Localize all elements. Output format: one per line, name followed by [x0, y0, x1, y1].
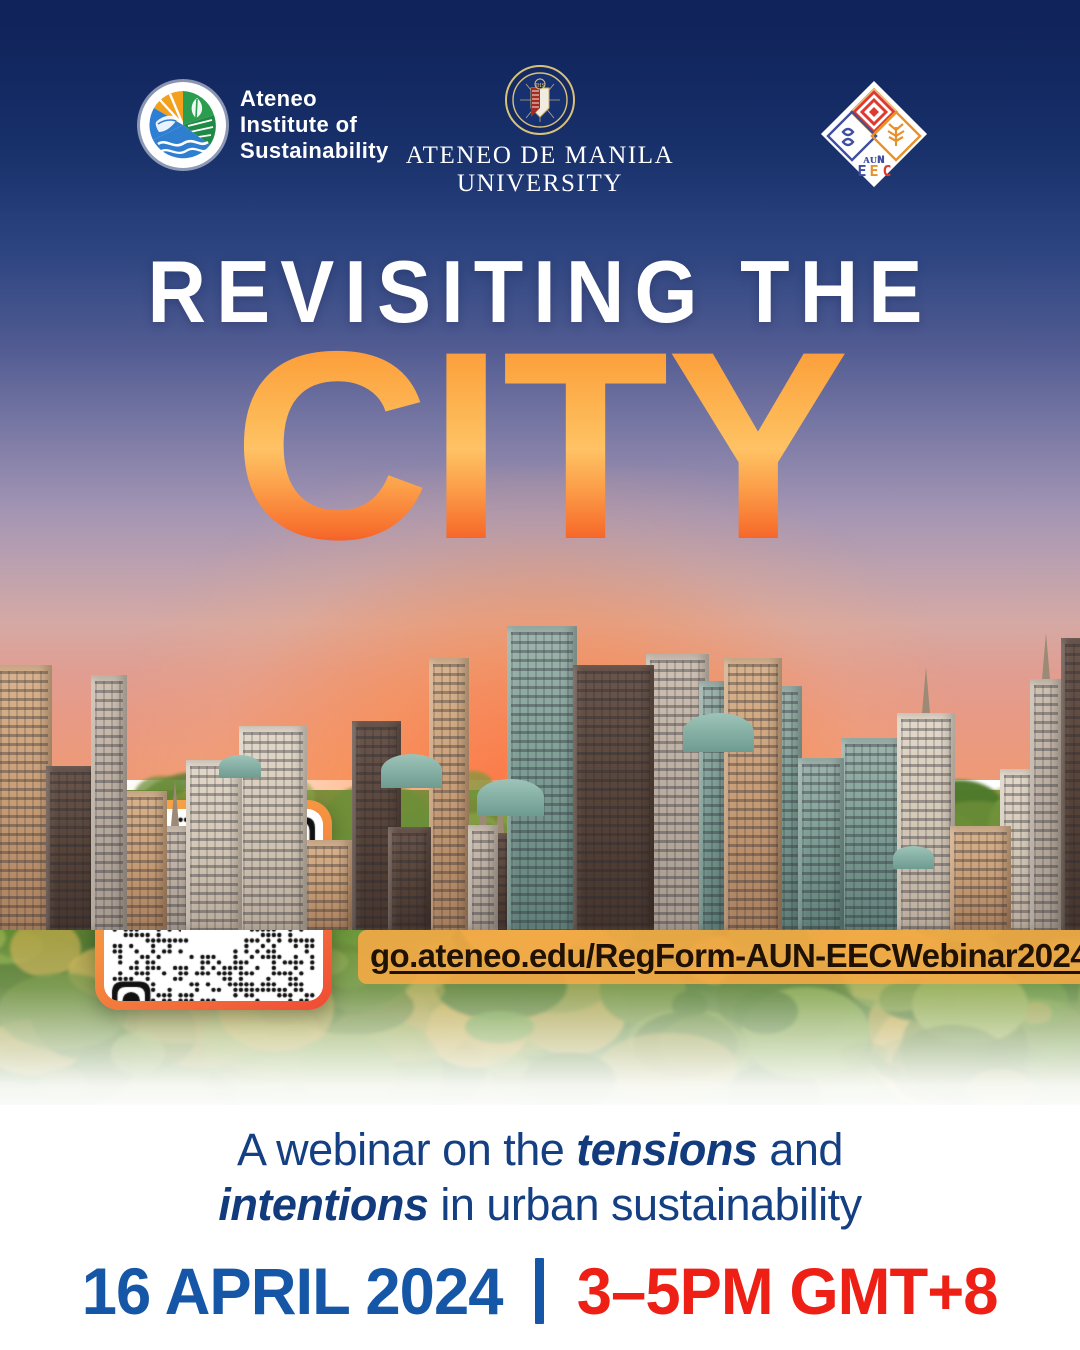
- building: [429, 658, 469, 930]
- building-dome: [893, 846, 934, 869]
- admu-seal-icon: IHS: [504, 64, 576, 136]
- building-spire: [171, 780, 179, 826]
- subtitle-line-1: A webinar on the tensions and: [0, 1123, 1080, 1178]
- footer-band: A webinar on the tensions and intentions…: [0, 1105, 1080, 1350]
- subtitle-text-3: in urban sustainability: [428, 1179, 861, 1230]
- subtitle-line-2: intentions in urban sustainability: [0, 1178, 1080, 1233]
- building: [507, 626, 577, 930]
- subtitle-emphasis-tensions: tensions: [576, 1124, 757, 1175]
- webinar-poster: Ateneo Institute of Sustainability: [0, 0, 1080, 1350]
- logo-row: Ateneo Institute of Sustainability: [0, 62, 1080, 182]
- building: [468, 825, 498, 930]
- subtitle-emphasis-intentions: intentions: [218, 1179, 428, 1230]
- building: [303, 840, 352, 930]
- building: [186, 760, 242, 930]
- webinar-subtitle: A webinar on the tensions and intentions…: [0, 1105, 1080, 1233]
- building: [1061, 638, 1080, 930]
- poster-headline: REVISITING THE CITY: [0, 248, 1080, 560]
- svg-text:C: C: [882, 162, 891, 180]
- aun-eec-logo: ᴀᴜɴ E E C: [818, 78, 930, 190]
- registration-url[interactable]: go.ateneo.edu/RegForm-AUN-EECWebinar2024: [370, 937, 1080, 974]
- building: [0, 665, 52, 930]
- svg-text:E: E: [857, 162, 866, 180]
- building-dome: [683, 713, 754, 752]
- building: [841, 738, 904, 930]
- subtitle-text-1: A webinar on the: [237, 1124, 576, 1175]
- svg-text:E: E: [869, 162, 878, 180]
- svg-text:IHS: IHS: [535, 83, 545, 89]
- building-dome: [477, 779, 544, 816]
- building-spire: [1042, 633, 1050, 679]
- building: [91, 675, 127, 930]
- dateline-divider: [535, 1258, 544, 1324]
- headline-line-2: CITY: [0, 330, 1080, 560]
- registration-url-pill[interactable]: go.ateneo.edu/RegForm-AUN-EECWebinar2024: [358, 930, 1080, 984]
- building-dome: [219, 755, 261, 778]
- building: [950, 826, 1011, 930]
- building: [897, 713, 955, 930]
- building: [573, 665, 654, 930]
- building-spire: [922, 667, 930, 713]
- event-time: 3–5PM GMT+8: [577, 1253, 998, 1329]
- building: [1030, 679, 1062, 930]
- event-dateline: 16 APRIL 2024 3–5PM GMT+8: [0, 1253, 1080, 1329]
- building-dome: [381, 754, 442, 788]
- building: [798, 758, 844, 930]
- event-date: 16 APRIL 2024: [82, 1253, 503, 1329]
- building: [724, 658, 782, 930]
- building: [388, 827, 431, 930]
- subtitle-text-2: and: [757, 1124, 843, 1175]
